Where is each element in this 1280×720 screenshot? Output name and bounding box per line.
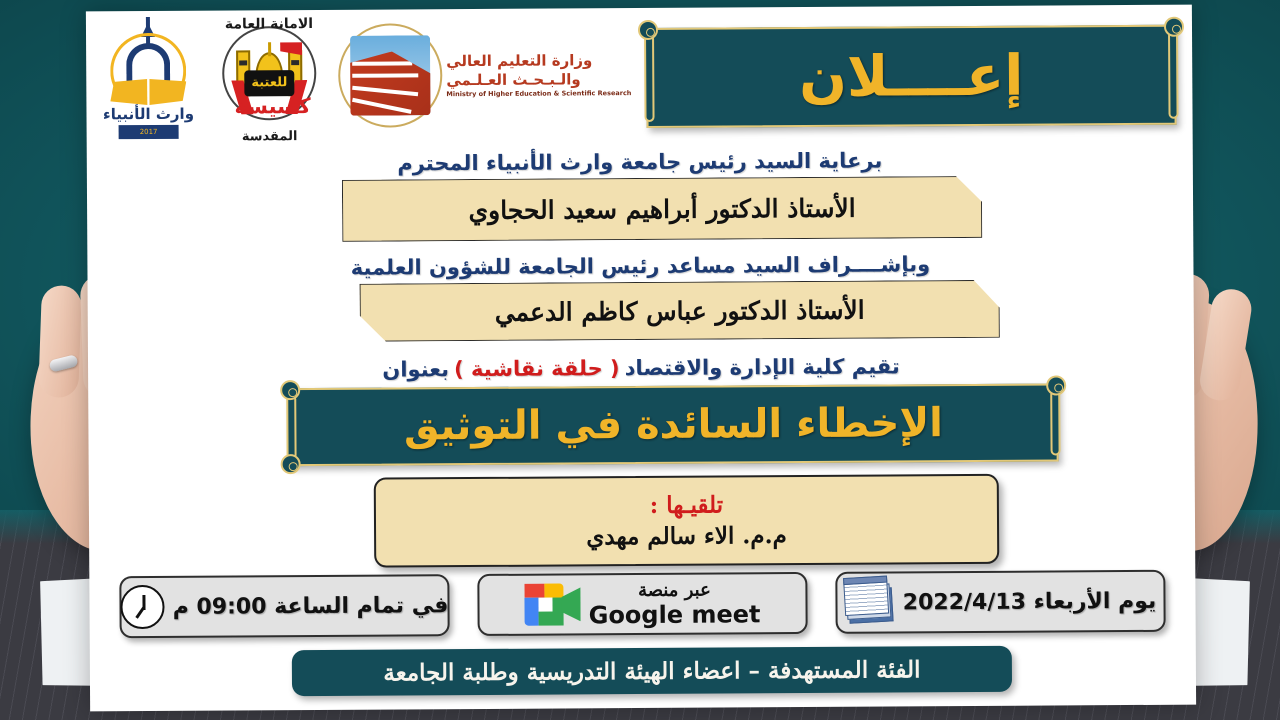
google-meet-icon (525, 583, 581, 625)
university-logo-arabic-name: وارث الأنبياء (100, 105, 196, 124)
announcement-title: إعــــلان (648, 27, 1175, 126)
date-text: يوم الأربعاء 2022/4/13 (903, 588, 1157, 615)
calendar-icon (843, 579, 895, 626)
platform-text: عبر منصة Google meet (588, 579, 760, 629)
event-title: الإخطاء السائدة في التوثيق (290, 385, 1056, 464)
platform-arabic-label: عبر منصة (638, 579, 711, 600)
time-box: في تمام الساعة 09:00 م (119, 574, 449, 638)
ministry-logo-line2: والـبـحـث العـلـمي (446, 70, 631, 90)
shrine-logo-top-text: الامانة العامة (214, 16, 324, 33)
target-audience-text: الفئة المستهدفة – اعضاء الهيئة التدريسية… (383, 656, 920, 686)
event-type-label: ( حلقة نقاشية ) (454, 356, 620, 381)
patron-name: الأستاذ الدكتور أبراهيم سعيد الحجاوي (468, 193, 855, 224)
platform-box[interactable]: عبر منصة Google meet (477, 572, 807, 636)
logo-row: وارث الأنبياء 2017 الامانة العامة للعتبة… (96, 14, 579, 145)
organizer-line: تقيم كلية الإدارة والاقتصاد ( حلقة نقاشي… (88, 353, 1194, 384)
shrine-logo-red-word: كسيسة (234, 94, 304, 118)
speaker-label: تلقيـها : (650, 492, 724, 519)
ministry-logo-line3-english: Ministry of Higher Education & Scientifi… (446, 89, 631, 98)
speaker-box: تلقيـها : م.م. الاء سالم مهدي (374, 474, 1000, 568)
ministry-of-higher-education-logo: وزارة التعليم العالي والـبـحـث العـلـمي … (338, 14, 579, 135)
patronage-line: برعاية السيد رئيس جامعة وارث الأنبياء ال… (87, 147, 1193, 178)
organizer-suffix: بعنوان (382, 357, 449, 381)
speaker-name: م.م. الاء سالم مهدي (586, 522, 787, 550)
target-audience-bar: الفئة المستهدفة – اعضاء الهيئة التدريسية… (292, 646, 1012, 696)
clock-icon (121, 585, 165, 629)
ministry-emblem (338, 23, 443, 128)
al-abbas-holy-shrine-logo: الامانة العامة للعتبة كسيسة المقدسة (214, 16, 325, 145)
announcement-banner: إعــــلان (646, 25, 1177, 128)
organizer-prefix: تقيم كلية الإدارة والاقتصاد (625, 354, 900, 380)
patron-name-box: الأستاذ الدكتور أبراهيم سعيد الحجاوي (342, 176, 982, 242)
ministry-logo-line1: وزارة التعليم العالي (446, 51, 631, 71)
shrine-logo-center-word: للعتبة (244, 70, 294, 96)
poster-board: وارث الأنبياء 2017 الامانة العامة للعتبة… (86, 5, 1196, 712)
date-box: يوم الأربعاء 2022/4/13 (835, 570, 1165, 634)
supervision-line: وبإشــــراف السيد مساعد رئيس الجامعة للش… (87, 251, 1193, 282)
platform-name: Google meet (589, 600, 761, 629)
university-of-warith-al-anbiyaa-logo: وارث الأنبياء 2017 (96, 17, 201, 144)
shrine-logo-bottom-text: المقدسة (215, 129, 325, 145)
supervisor-name-box: الأستاذ الدكتور عباس كاظم الدعمي (360, 280, 1000, 342)
open-book-shape (110, 79, 186, 105)
event-details-row: في تمام الساعة 09:00 م عبر منصة Google m… (119, 567, 1165, 641)
ministry-logo-text: وزارة التعليم العالي والـبـحـث العـلـمي … (446, 51, 631, 99)
event-title-banner: الإخطاء السائدة في التوثيق (288, 383, 1058, 466)
supervisor-name: الأستاذ الدكتور عباس كاظم الدعمي (495, 295, 865, 326)
university-logo-year: 2017 (119, 125, 179, 139)
time-text: في تمام الساعة 09:00 م (173, 593, 449, 620)
emblem-inner (350, 35, 430, 115)
